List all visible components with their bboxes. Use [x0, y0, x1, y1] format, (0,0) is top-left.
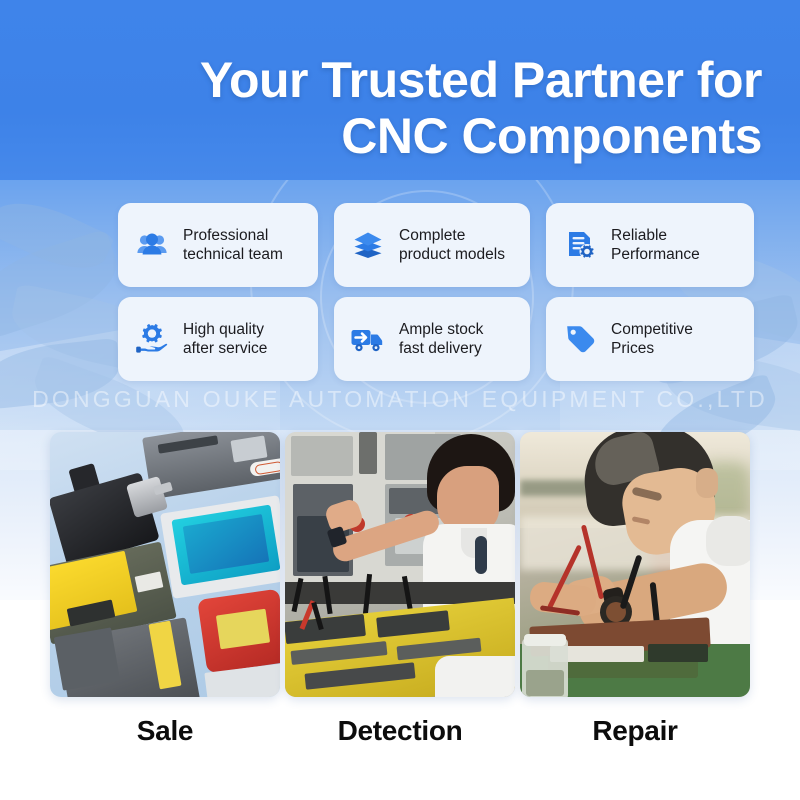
photo-technician-repair	[520, 432, 750, 697]
photo-technician-testing	[285, 432, 515, 697]
price-tag-icon	[560, 319, 600, 359]
gallery-caption: Repair	[520, 715, 750, 747]
feature-card-competitive-prices[interactable]: Competitive Prices	[546, 297, 754, 381]
feature-card-label: Complete product models	[399, 226, 505, 264]
feature-card-row-1: Professional technical team Complete pro…	[118, 203, 754, 287]
feature-card-professional-technical-team[interactable]: Professional technical team	[118, 203, 318, 287]
gallery-item-repair[interactable]: Repair	[520, 432, 750, 747]
gallery-item-sale[interactable]: Sale	[50, 432, 280, 747]
feature-card-label: High quality after service	[183, 320, 267, 358]
headline-line-2: CNC Components	[40, 108, 762, 164]
photo-gallery: Sale	[50, 432, 750, 747]
layers-icon	[348, 225, 388, 265]
feature-card-ample-stock-fast-delivery[interactable]: Ample stock fast delivery	[334, 297, 530, 381]
headline-line-1: Your Trusted Partner for	[200, 52, 762, 108]
feature-card-label: Competitive Prices	[611, 320, 693, 358]
feature-card-label: Ample stock fast delivery	[399, 320, 483, 358]
gallery-caption: Detection	[285, 715, 515, 747]
photo-cnc-parts	[50, 432, 280, 697]
feature-card-label: Professional technical team	[183, 226, 283, 264]
feature-card-complete-product-models[interactable]: Complete product models	[334, 203, 530, 287]
feature-card-label: Reliable Performance	[611, 226, 700, 264]
document-gear-icon	[560, 225, 600, 265]
team-icon	[132, 225, 172, 265]
feature-card-reliable-performance[interactable]: Reliable Performance	[546, 203, 754, 287]
gear-in-hand-icon	[132, 319, 172, 359]
feature-card-high-quality-after-service[interactable]: High quality after service	[118, 297, 318, 381]
gallery-caption: Sale	[50, 715, 280, 747]
promo-banner: Your Trusted Partner for CNC Components …	[0, 0, 800, 800]
gallery-item-detection[interactable]: Detection	[285, 432, 515, 747]
feature-card-grid: Professional technical team Complete pro…	[118, 203, 754, 391]
page-title: Your Trusted Partner for CNC Components	[40, 52, 762, 164]
feature-card-row-2: High quality after service	[118, 297, 754, 381]
delivery-truck-icon	[348, 319, 388, 359]
